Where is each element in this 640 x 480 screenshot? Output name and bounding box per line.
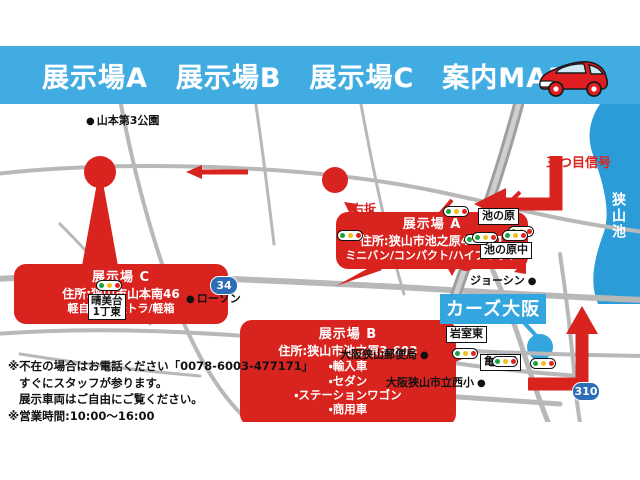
landmark-joshin: ジョーシン xyxy=(470,272,537,288)
callout-b-title: 展示場 B xyxy=(244,327,452,343)
callout-c-tail xyxy=(72,166,132,270)
traffic-signal-icon xyxy=(530,358,556,369)
notes-line-3: 展示車両はご自由にご覧ください。 xyxy=(8,391,308,408)
red-car-icon xyxy=(534,54,612,98)
notes-line-2: すぐにスタッフが参ります。 xyxy=(8,375,308,392)
intersection-iwamuro-higashi: 岩室東 xyxy=(446,326,487,343)
traffic-signal-icon xyxy=(96,280,122,291)
lake-label: 狭山池 xyxy=(608,192,628,240)
brand-label: カーズ大阪 xyxy=(440,294,546,324)
intersection-ikenohara: 池の原 xyxy=(478,208,519,225)
annotation-turn-right: 右折 xyxy=(352,200,376,217)
landmark-yamamoto-park: 山本第3公園 xyxy=(86,112,159,128)
traffic-signal-icon xyxy=(452,348,478,359)
route-shield-310: 310 xyxy=(572,382,600,401)
route-shield-34: 34 xyxy=(210,276,238,295)
intersection-harumidai: 晴美台 1丁東 xyxy=(88,294,126,320)
page-title: 展示場A 展示場B 展示場C 案内MAP xyxy=(42,56,569,95)
footer-notes: ※不在の場合はお電話ください「0078-6003-477171」 すぐにスタッフ… xyxy=(8,358,308,425)
header-banner: 展示場A 展示場B 展示場C 案内MAP xyxy=(0,46,640,104)
traffic-signal-icon xyxy=(443,206,469,217)
notes-line-4: ※営業時間:10:00～16:00 xyxy=(8,408,308,425)
traffic-signal-icon xyxy=(492,356,518,367)
traffic-signal-icon xyxy=(502,230,528,241)
callout-a-tail xyxy=(336,264,396,290)
intersection-ikenohara-naka: 池の原中 xyxy=(480,242,532,259)
annotation-third-signal: 三つ目信号 xyxy=(546,152,611,171)
landmark-post-office: 大阪狭山郵便局 xyxy=(340,346,429,362)
intersection-harumidai-line2: 1丁東 xyxy=(91,307,123,318)
showroom-a-marker xyxy=(322,167,348,193)
notes-line-1: ※不在の場合はお電話ください「0078-6003-477171」 xyxy=(8,358,308,375)
landmark-nishi-elementary: 大阪狭山市立西小 xyxy=(386,374,486,390)
traffic-signal-icon xyxy=(337,230,363,241)
traffic-signal-icon xyxy=(472,232,498,243)
map-page: 展示場A 展示場B 展示場C 案内MAP xyxy=(0,0,640,480)
